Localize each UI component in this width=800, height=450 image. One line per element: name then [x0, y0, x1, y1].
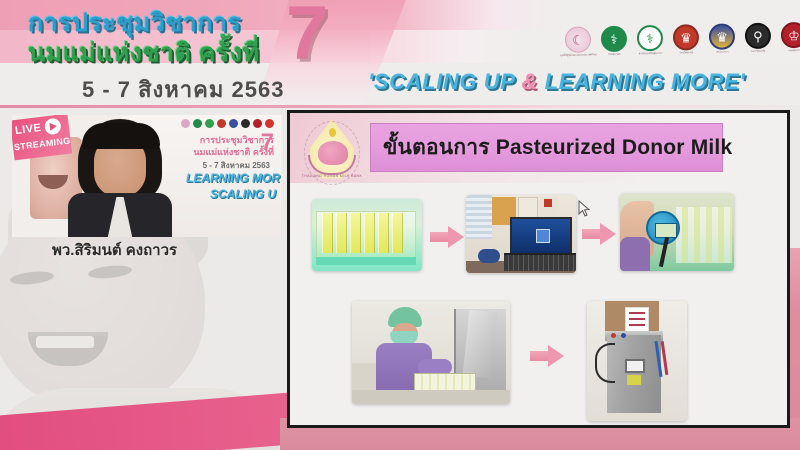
- royal-thai-emblem-icon: ♛: [709, 23, 736, 50]
- conference-edition-number: 7: [286, 0, 328, 72]
- child-teeth: [36, 336, 94, 348]
- speaker-name-caption: พว.สิริมนต์ คงถาวร: [52, 238, 177, 262]
- live-streaming-badge: LIVE STREAMING: [12, 115, 72, 160]
- logo-ring-text: THAILAND HUMAN MILK BANK: [299, 174, 365, 178]
- poster-logo-3-icon: [205, 119, 214, 128]
- photo-digital-thermometer-logger: [620, 193, 734, 271]
- mouse-pointer: [578, 200, 590, 218]
- logo-caption: ราชวิทยาลัย: [679, 51, 693, 55]
- bottle-column: [378, 213, 389, 253]
- speaker-video-figure: [64, 115, 176, 237]
- logo-ministry-public-health: ⚕ กรมอนามัย: [599, 26, 630, 58]
- photo-nurse-loading-bottles: [352, 301, 510, 404]
- arrow-shaft: [430, 232, 450, 242]
- bottle-column: [364, 213, 375, 253]
- machine-control-panel: [625, 359, 645, 373]
- window-blinds: [466, 195, 492, 239]
- live-stream-video-panel[interactable]: การประชุมวิชาการ นมแม่แห่งชาติ ครั้งที่ …: [12, 115, 282, 237]
- photo-milk-bottles-in-crate: [312, 199, 422, 271]
- poster-logo-7-icon: [253, 119, 262, 128]
- sign-line: [629, 324, 645, 326]
- ministry-public-health-icon: ⚕: [601, 26, 628, 53]
- logo-royal-thai-emblem: ♛ สำนักงานฯ: [707, 23, 738, 55]
- speaker-bangs: [82, 123, 160, 149]
- logo-university-seal: ⚲ มหาวิทยาลัย: [743, 23, 774, 55]
- poster-logo-8-icon: [265, 119, 274, 128]
- computer-mouse: [478, 249, 500, 263]
- screen-icon: [536, 229, 550, 243]
- play-icon: [44, 118, 62, 136]
- arrow-head: [548, 345, 564, 367]
- medical-council-icon: ♔: [781, 22, 800, 49]
- logo-caption: มหาวิทยาลัย: [751, 50, 765, 54]
- poster-tagline-line2: SCALING U: [210, 187, 276, 201]
- bottle-column: [336, 213, 347, 253]
- photo-pasteurizer-machine: [587, 301, 687, 421]
- arrow-head: [600, 223, 616, 245]
- arrow-step-1-to-2: [430, 226, 464, 248]
- page-title: ขั้นตอนการ Pasteurized Donor Milk: [371, 131, 732, 164]
- conference-title-line2: นมแม่แห่งชาติ ครั้งที่: [28, 33, 260, 73]
- poster-logo-5-icon: [229, 119, 238, 128]
- arrow-step-4-to-5: [530, 345, 564, 367]
- thai-breastfeeding-foundation-icon: ☾: [565, 26, 592, 53]
- logo-department-health: ⚕ สำนักส่งเสริมสุขภาพ: [635, 25, 666, 57]
- royal-college-icon: ♛: [673, 24, 700, 51]
- bottle-column: [322, 213, 333, 253]
- crate-base: [316, 257, 416, 265]
- poster-logo-6-icon: [241, 119, 250, 128]
- logo-caption: แพทยสภา: [789, 49, 800, 53]
- logo-caption: สำนักส่งเสริมสุขภาพ: [639, 52, 662, 56]
- wall-red-marker: [544, 199, 552, 207]
- human-milk-bank-logo: THAILAND HUMAN MILK BANK: [296, 117, 368, 193]
- laptop-screen: [510, 217, 572, 255]
- laptop-keyboard: [504, 253, 576, 271]
- arrow-head: [448, 226, 464, 248]
- conference-tagline: 'SCALING UP & LEARNING MORE': [368, 69, 745, 95]
- department-health-icon: ⚕: [637, 25, 664, 52]
- poster-tagline-line1: LEARNING MOR: [186, 171, 280, 185]
- machine-label: [627, 375, 641, 385]
- logo-caption: สำนักงานฯ: [716, 50, 728, 54]
- logo-caption: กรมอนามัย: [608, 53, 621, 57]
- tagline-prefix: 'SCALING UP: [368, 69, 521, 94]
- purple-sleeve: [620, 237, 650, 271]
- slide-title-banner: ขั้นตอนการ Pasteurized Donor Milk: [370, 123, 723, 172]
- presentation-slide: THAILAND HUMAN MILK BANK ขั้นตอนการ Past…: [287, 110, 790, 428]
- bottle-column: [392, 213, 403, 253]
- poster-logo-row: [181, 119, 274, 128]
- machine-knob-blue: [621, 333, 626, 338]
- streaming-label: STREAMING: [13, 135, 70, 152]
- arrow-step-2-to-3: [582, 223, 616, 245]
- machine-knob-red: [611, 333, 616, 338]
- sign-line: [629, 312, 645, 314]
- bottle-rack: [676, 207, 732, 263]
- poster-edition-number: 7: [261, 131, 274, 155]
- arrow-shaft: [530, 351, 550, 361]
- machine-body: [607, 335, 661, 413]
- arrow-shaft: [582, 229, 602, 239]
- logo-thai-breastfeeding-foundation: ☾ มูลนิธิศูนย์นมแม่แห่งประเทศไทย: [563, 26, 594, 58]
- logo-medical-council: ♔ แพทยสภา: [779, 22, 800, 54]
- poster-logo-4-icon: [217, 119, 226, 128]
- poster-logo-1-icon: [181, 119, 190, 128]
- tagline-ampersand: &: [521, 69, 538, 94]
- mouse-pointer-icon: [578, 200, 590, 218]
- logo-caption: มูลนิธิศูนย์นมแม่แห่งประเทศไทย: [560, 53, 596, 58]
- university-seal-icon: ⚲: [745, 23, 772, 50]
- floor: [352, 390, 510, 404]
- power-cable: [595, 343, 615, 383]
- sign-line: [629, 318, 645, 320]
- photo-laptop-data-recording: [466, 195, 576, 273]
- conference-date: 5 - 7 สิงหาคม 2563: [82, 72, 284, 107]
- live-label: LIVE: [14, 122, 42, 137]
- bottle-column: [350, 213, 361, 253]
- screen: การประชุมวิชาการ นมแม่แห่งชาติ ครั้งที่ …: [0, 0, 800, 450]
- logo-royal-college: ♛ ราชวิทยาลัย: [671, 24, 702, 56]
- digital-thermometer-icon: [646, 211, 680, 245]
- tagline-suffix: LEARNING MORE': [538, 69, 745, 94]
- organization-logo-strip: ☾ มูลนิธิศูนย์นมแม่แห่งประเทศไทย ⚕ กรมอน…: [563, 21, 800, 58]
- poster-logo-2-icon: [193, 119, 202, 128]
